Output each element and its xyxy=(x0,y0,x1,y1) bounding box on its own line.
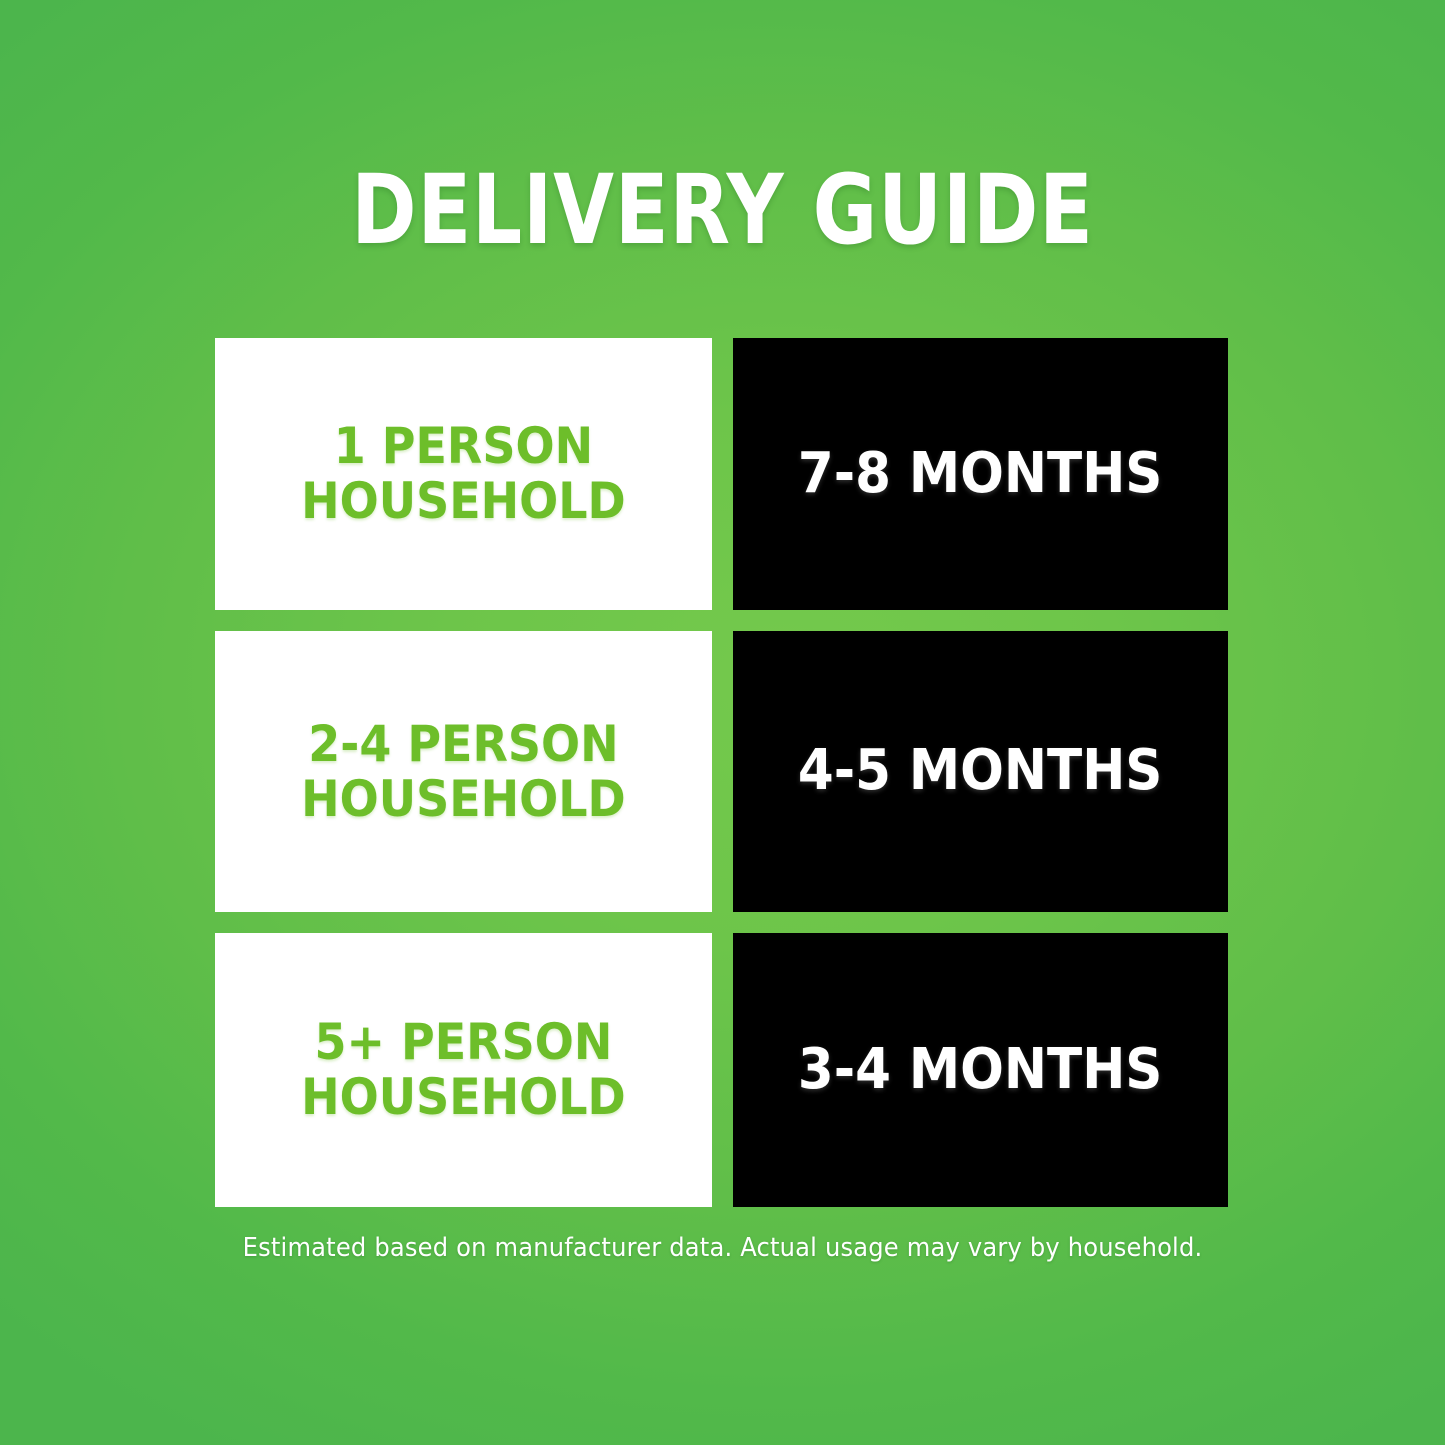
household-size-cell-1: 1 PERSON HOUSEHOLD xyxy=(215,338,712,610)
household-size-line-2b: HOUSEHOLD xyxy=(301,770,626,828)
delivery-guide-table: 1 PERSON HOUSEHOLD 7-8 MONTHS 2-4 PERSON… xyxy=(215,338,1228,1207)
household-size-label-3: 5+ PERSON HOUSEHOLD xyxy=(301,1015,626,1125)
duration-label-3: 3-4 MONTHS xyxy=(798,1041,1163,1100)
delivery-guide-poster: DELIVERY GUIDE 1 PERSON HOUSEHOLD 7-8 MO… xyxy=(0,0,1445,1445)
household-size-line-2a: 2-4 PERSON xyxy=(308,715,618,773)
household-size-line-3b: HOUSEHOLD xyxy=(301,1068,626,1126)
table-row: 5+ PERSON HOUSEHOLD 3-4 MONTHS xyxy=(215,933,1228,1207)
duration-label-2: 4-5 MONTHS xyxy=(798,742,1163,801)
household-size-cell-3: 5+ PERSON HOUSEHOLD xyxy=(215,933,712,1207)
disclaimer-text: Estimated based on manufacturer data. Ac… xyxy=(51,1233,1395,1263)
household-size-line-1a: 1 PERSON xyxy=(334,417,593,475)
table-row: 2-4 PERSON HOUSEHOLD 4-5 MONTHS xyxy=(215,631,1228,912)
household-size-cell-2: 2-4 PERSON HOUSEHOLD xyxy=(215,631,712,912)
duration-cell-3: 3-4 MONTHS xyxy=(733,933,1228,1207)
duration-cell-2: 4-5 MONTHS xyxy=(733,631,1228,912)
duration-cell-1: 7-8 MONTHS xyxy=(733,338,1228,610)
household-size-label-1: 1 PERSON HOUSEHOLD xyxy=(301,419,626,529)
page-title: DELIVERY GUIDE xyxy=(130,162,1315,258)
duration-label-1: 7-8 MONTHS xyxy=(798,445,1163,504)
table-row: 1 PERSON HOUSEHOLD 7-8 MONTHS xyxy=(215,338,1228,610)
household-size-line-3a: 5+ PERSON xyxy=(315,1013,613,1071)
household-size-label-2: 2-4 PERSON HOUSEHOLD xyxy=(301,717,626,827)
household-size-line-1b: HOUSEHOLD xyxy=(301,472,626,530)
